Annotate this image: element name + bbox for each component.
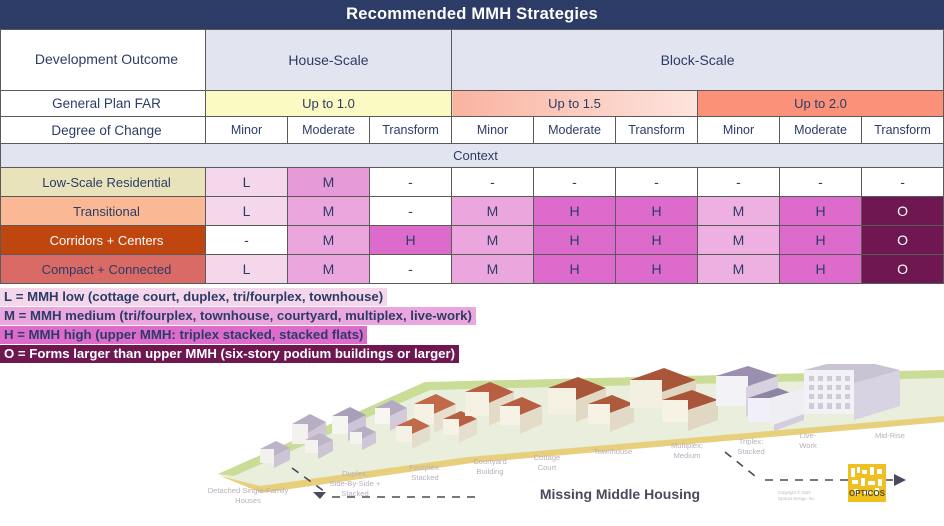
matrix-cell: -: [206, 226, 288, 255]
matrix-cell: H: [534, 226, 616, 255]
matrix-cell: H: [616, 255, 698, 284]
table-row: Corridors + Centers - M H M H H M H O: [1, 226, 944, 255]
matrix-cell: H: [370, 226, 452, 255]
matrix-cell: M: [452, 197, 534, 226]
illo-label-triplex-1: Triplex:: [739, 437, 764, 446]
illo-label-livework-2: Work: [799, 441, 817, 450]
illo-label-fourplex-2: Stacked: [411, 473, 438, 482]
matrix-cell: H: [780, 226, 862, 255]
context-row-label-compact-connected: Compact + Connected: [1, 255, 206, 284]
legend-key-medium: M: [4, 308, 15, 323]
legend-text-medium: = MMH medium (tri/fourplex, townhouse, c…: [15, 308, 472, 323]
matrix-cell: L: [206, 255, 288, 284]
illo-label-multiplex-2: Medium: [673, 451, 700, 460]
matrix-cell: M: [452, 226, 534, 255]
matrix-cell: M: [288, 168, 370, 197]
legend-entry-medium: M = MMH medium (tri/fourplex, townhouse,…: [0, 307, 476, 325]
matrix-cell: M: [698, 197, 780, 226]
matrix-cell: -: [698, 168, 780, 197]
degree-cell: Minor: [452, 117, 534, 144]
matrix-cell: H: [534, 255, 616, 284]
matrix-cell: H: [780, 197, 862, 226]
matrix-cell: -: [370, 168, 452, 197]
mmh-strategy-table: Development Outcome House-Scale Block-Sc…: [0, 29, 944, 284]
illo-label-multiplex-1: Multiplex:: [671, 441, 703, 450]
table-row: Compact + Connected L M - M H H M H O: [1, 255, 944, 284]
matrix-cell: L: [206, 168, 288, 197]
legend-text-over: = Forms larger than upper MMH (six-story…: [14, 346, 455, 361]
matrix-cell: O: [862, 255, 944, 284]
context-row-label-low-scale-residential: Low-Scale Residential: [1, 168, 206, 197]
matrix-cell: -: [370, 255, 452, 284]
legend-key-high: H: [4, 327, 14, 342]
context-row-label-transitional: Transitional: [1, 197, 206, 226]
matrix-cell: -: [370, 197, 452, 226]
legend-row-medium: M = MMH medium (tri/fourplex, townhouse,…: [0, 307, 944, 326]
table-row-degree-of-change: Degree of Change Minor Moderate Transfor…: [1, 117, 944, 144]
illo-label-mid-rise: Mid-Rise: [875, 431, 905, 440]
table-row-scale-header: Development Outcome House-Scale Block-Sc…: [1, 30, 944, 91]
matrix-cell: -: [534, 168, 616, 197]
matrix-cell: O: [862, 197, 944, 226]
illo-label-livework-1: Live-: [800, 431, 817, 440]
illo-label-duplex-3: Stacked: [341, 489, 368, 498]
table-row: Transitional L M - M H H M H O: [1, 197, 944, 226]
illo-label-duplex-2: Side-By-Side +: [330, 479, 381, 488]
arrow-head-right: [894, 474, 906, 486]
degree-cell: Minor: [698, 117, 780, 144]
far-value-block-scale-15: Up to 1.5: [452, 91, 698, 117]
matrix-cell: -: [780, 168, 862, 197]
degree-cell: Moderate: [534, 117, 616, 144]
illo-copyright-line2: Opticos Design, Inc.: [778, 496, 815, 501]
legend: L = MMH low (cottage court, duplex, tri/…: [0, 288, 944, 364]
opticos-logo-text: OPTICOS: [849, 489, 886, 498]
matrix-cell: M: [698, 226, 780, 255]
matrix-cell: H: [780, 255, 862, 284]
matrix-cell: O: [862, 226, 944, 255]
legend-row-high: H = MMH high (upper MMH: triplex stacked…: [0, 326, 944, 345]
degree-cell: Moderate: [288, 117, 370, 144]
degree-cell: Transform: [862, 117, 944, 144]
illo-label-courtyard-2: Building: [476, 467, 503, 476]
page-title: Recommended MMH Strategies: [346, 5, 598, 24]
matrix-cell: H: [534, 197, 616, 226]
legend-key-over: O: [4, 346, 14, 361]
matrix-cell: H: [616, 226, 698, 255]
matrix-cell: -: [862, 168, 944, 197]
house-scale-header: House-Scale: [206, 30, 452, 91]
legend-text-low: = MMH low (cottage court, duplex, tri/fo…: [12, 289, 383, 304]
illo-copyright-line1: Copyright © 2020: [778, 490, 811, 495]
slide-title-bar: Recommended MMH Strategies: [0, 0, 944, 29]
table-row-context-band: Context: [1, 144, 944, 168]
matrix-cell: -: [452, 168, 534, 197]
matrix-cell: L: [206, 197, 288, 226]
illo-label-courtyard-1: Courtyard: [473, 457, 506, 466]
degree-cell: Moderate: [780, 117, 862, 144]
legend-entry-over: O = Forms larger than upper MMH (six-sto…: [0, 345, 459, 363]
far-value-block-scale-20: Up to 2.0: [698, 91, 944, 117]
matrix-cell: M: [698, 255, 780, 284]
illo-label-fourplex-1: Fourplex:: [409, 463, 441, 472]
matrix-cell: M: [288, 226, 370, 255]
table-row: Low-Scale Residential L M - - - - - - -: [1, 168, 944, 197]
context-row-label-corridors-centers: Corridors + Centers: [1, 226, 206, 255]
legend-entry-low: L = MMH low (cottage court, duplex, tri/…: [0, 288, 387, 306]
legend-row-low: L = MMH low (cottage court, duplex, tri/…: [0, 288, 944, 307]
arrow-head-left: [313, 492, 326, 499]
block-scale-header: Block-Scale: [452, 30, 944, 91]
degree-cell: Transform: [370, 117, 452, 144]
context-band-label: Context: [1, 144, 944, 168]
matrix-cell: -: [616, 168, 698, 197]
matrix-cell: H: [616, 197, 698, 226]
slide-root: Recommended MMH Strategies Development O…: [0, 0, 944, 526]
legend-entry-high: H = MMH high (upper MMH: triplex stacked…: [0, 326, 367, 344]
general-plan-far-label: General Plan FAR: [1, 91, 206, 117]
illo-label-duplex-1: Duplex:: [342, 469, 368, 478]
table-row-far: General Plan FAR Up to 1.0 Up to 1.5 Up …: [1, 91, 944, 117]
illo-label-detached-1: Detached Single-Family: [208, 486, 289, 495]
far-value-house-scale: Up to 1.0: [206, 91, 452, 117]
illo-label-townhouse: Townhouse: [594, 447, 632, 456]
illo-label-cottage-1: Cottage: [534, 453, 561, 462]
development-outcome-label: Development Outcome: [1, 30, 206, 91]
illo-caption-missing-middle-housing: Missing Middle Housing: [540, 486, 700, 502]
illo-label-detached-2: Houses: [235, 496, 261, 505]
degree-cell: Transform: [616, 117, 698, 144]
legend-row-over: O = Forms larger than upper MMH (six-sto…: [0, 345, 944, 364]
illo-label-cottage-2: Court: [538, 463, 557, 472]
matrix-cell: M: [288, 255, 370, 284]
degree-of-change-label: Degree of Change: [1, 117, 206, 144]
opticos-logo: OPTICOS: [848, 464, 886, 502]
matrix-cell: M: [288, 197, 370, 226]
illo-label-triplex-2: Stacked: [737, 447, 764, 456]
missing-middle-housing-illustration: Detached Single-Family Houses Duplex: Si…: [200, 364, 944, 526]
legend-key-low: L: [4, 289, 12, 304]
legend-text-high: = MMH high (upper MMH: triplex stacked, …: [14, 327, 364, 342]
matrix-cell: M: [452, 255, 534, 284]
degree-cell: Minor: [206, 117, 288, 144]
